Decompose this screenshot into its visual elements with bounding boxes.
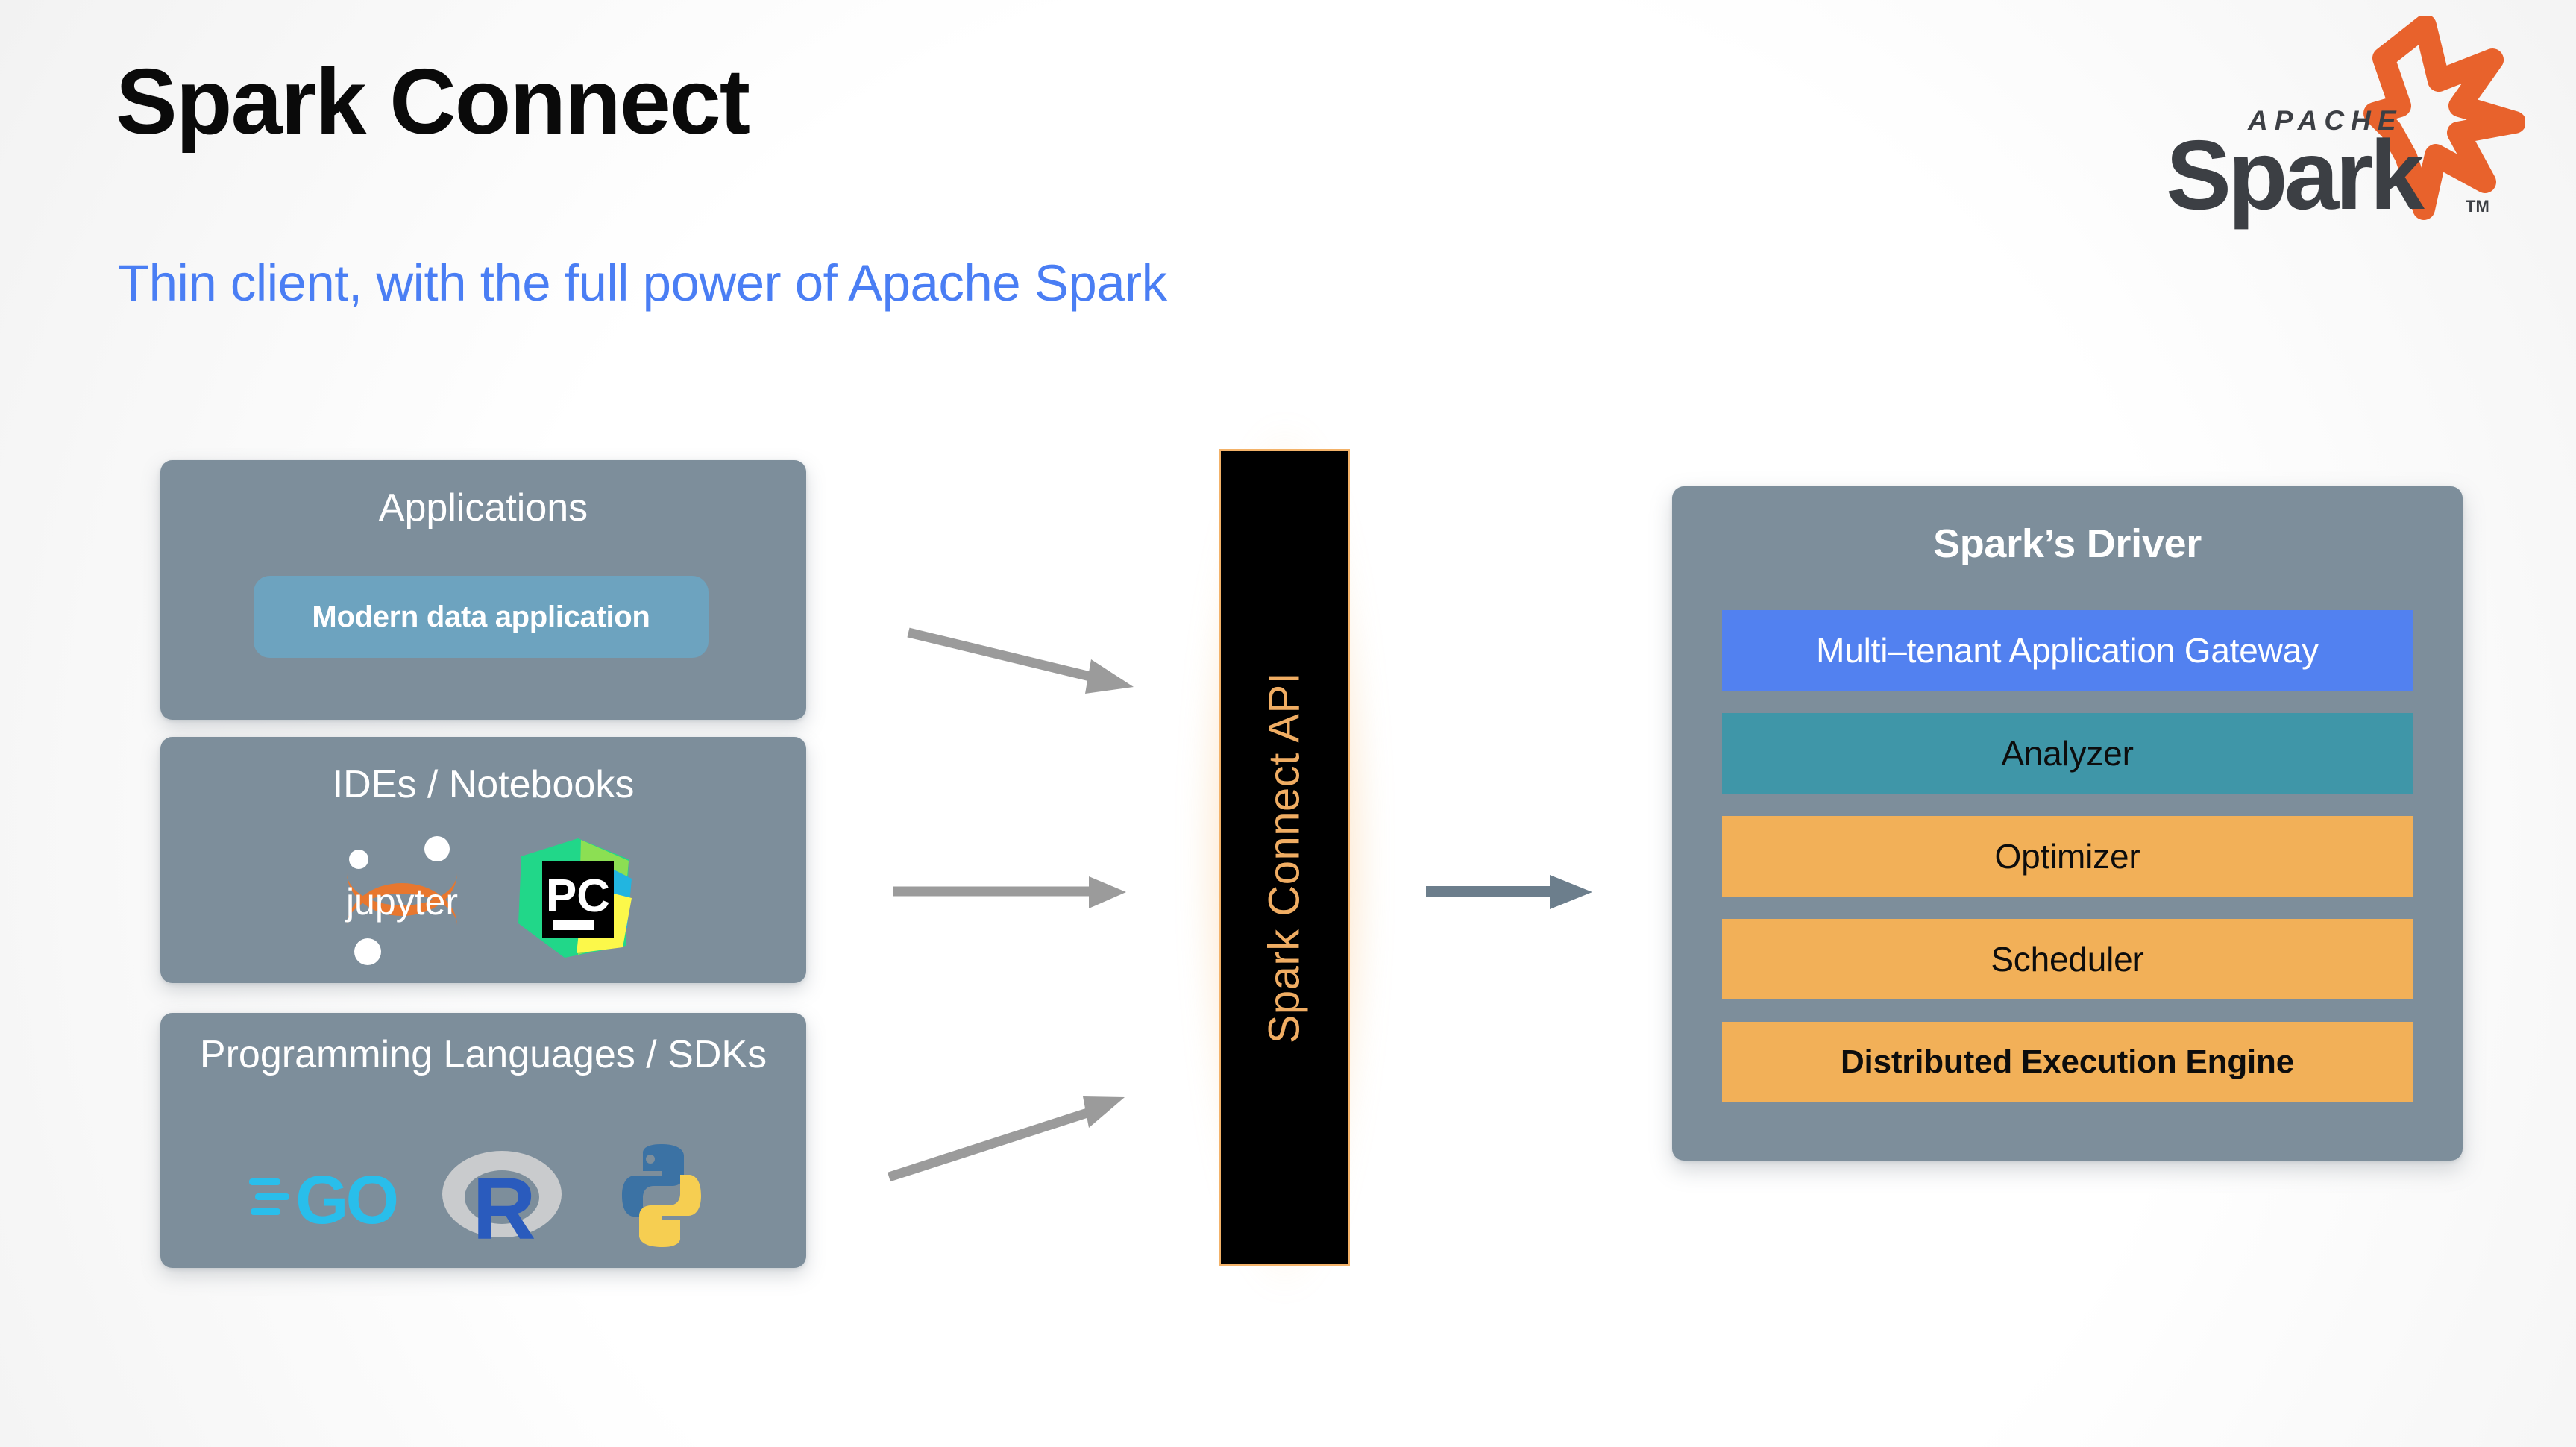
slide-canvas: Spark Connect Thin client, with the full…	[0, 0, 2576, 1447]
pycharm-logo: PC	[509, 834, 636, 961]
driver-bar-optimizer[interactable]: Optimizer	[1722, 816, 2413, 897]
arrow-applications-to-api	[908, 633, 1134, 694]
modern-data-application-box[interactable]: Modern data application	[254, 576, 709, 658]
spark-wordmark: Spark	[2166, 120, 2425, 230]
arrow-languages-to-api	[889, 1096, 1125, 1177]
trademark-mark: TM	[2466, 197, 2489, 216]
card-title-languages-sdks: Programming Languages / SDKs	[160, 1032, 806, 1077]
pycharm-pc-text: PC	[546, 870, 610, 922]
r-letter: R	[472, 1160, 535, 1248]
arrow-api-to-driver	[1426, 875, 1592, 909]
driver-bar-multi-tenant-application-gateway[interactable]: Multi–tenant Application Gateway	[1722, 610, 2413, 691]
driver-bar-distributed-execution-engine[interactable]: Distributed Execution Engine	[1722, 1022, 2413, 1102]
spark-driver-title: Spark’s Driver	[1672, 521, 2463, 567]
client-card-languages-sdks[interactable]: Programming Languages / SDKs GO R	[160, 1013, 806, 1268]
spark-connect-api-label: Spark Connect API	[1260, 672, 1310, 1044]
driver-bar-analyzer[interactable]: Analyzer	[1722, 713, 2413, 794]
card-title-ides-notebooks: IDEs / Notebooks	[160, 762, 806, 807]
r-language-logo: R	[440, 1143, 564, 1248]
page-subtitle: Thin client, with the full power of Apac…	[118, 254, 1167, 313]
jupyter-wordmark: jupyter	[345, 881, 458, 923]
jupyter-logo: jupyter	[330, 826, 474, 968]
driver-bar-scheduler[interactable]: Scheduler	[1722, 919, 2413, 999]
apache-spark-logo: APACHE Spark TM	[2137, 16, 2525, 233]
language-logo-row: GO R	[160, 1143, 806, 1248]
spark-connect-api-bar[interactable]: Spark Connect API	[1219, 449, 1350, 1266]
client-card-ides-notebooks[interactable]: IDEs / Notebooks jupyter	[160, 737, 806, 983]
client-card-applications[interactable]: Applications Modern data application	[160, 460, 806, 720]
golang-logo: GO	[249, 1155, 398, 1237]
ide-logo-row: jupyter PC	[160, 826, 806, 968]
python-logo	[606, 1140, 717, 1252]
arrow-ides-to-api	[893, 876, 1126, 908]
card-title-applications: Applications	[160, 486, 806, 530]
spark-driver-panel: Spark’s Driver Multi–tenant Application …	[1672, 486, 2463, 1161]
page-title: Spark Connect	[116, 54, 749, 151]
go-wordmark: GO	[295, 1162, 397, 1237]
